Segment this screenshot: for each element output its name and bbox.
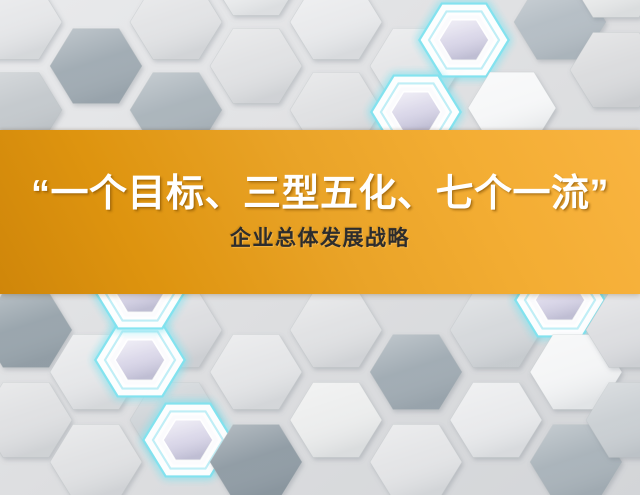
banner-title: “一个目标、三型五化、七个一流”	[31, 173, 609, 216]
banner-subtitle: 企业总体发展战略	[230, 226, 410, 251]
slide-canvas: “一个目标、三型五化、七个一流” 企业总体发展战略	[0, 0, 640, 495]
title-banner: “一个目标、三型五化、七个一流” 企业总体发展战略	[0, 130, 640, 294]
